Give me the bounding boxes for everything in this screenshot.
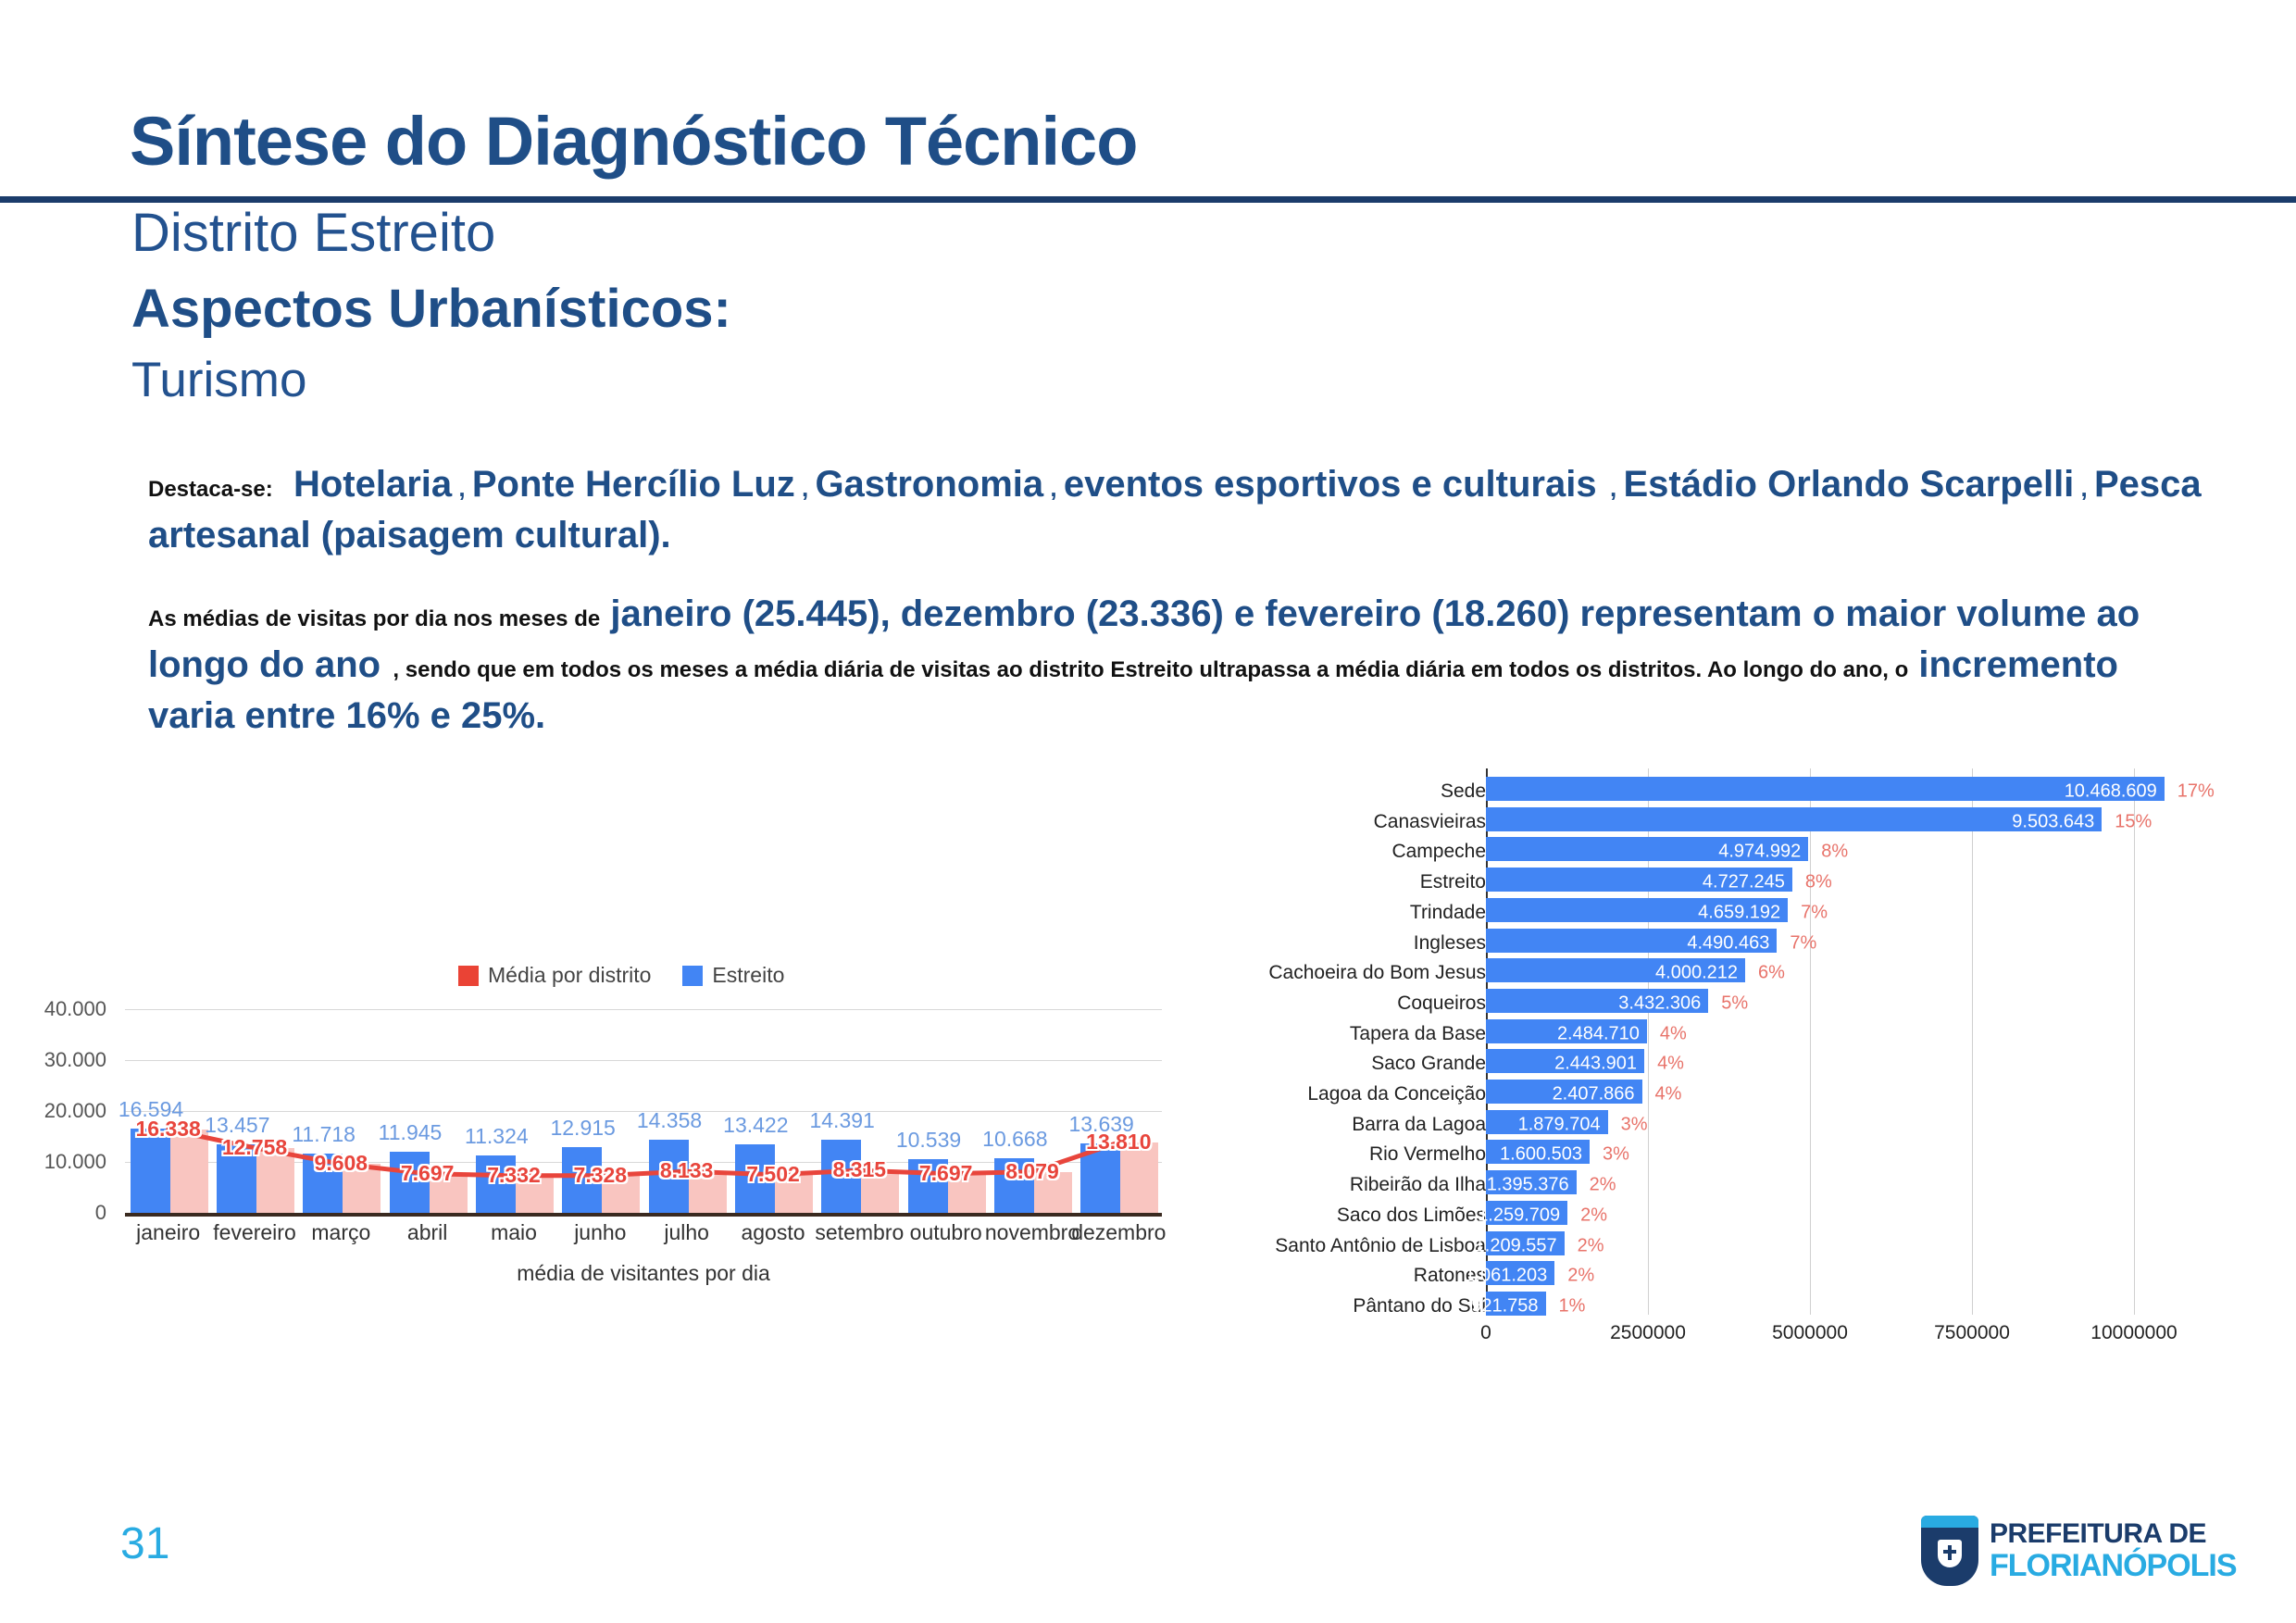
label-estreito-value: 11.718 — [292, 1122, 356, 1147]
subsection-title: Turismo — [131, 352, 306, 408]
hbar-category-label: Santo Antônio de Lisboa — [1275, 1235, 1486, 1257]
label-media-value: 13.810 — [1086, 1130, 1151, 1155]
hbar-percent-label: 17% — [2177, 781, 2215, 803]
hbar-percent-label: 7% — [1801, 902, 1828, 923]
hbar-category-label: Estreito — [1420, 871, 1486, 893]
brand-text: PREFEITURA DE FLORIANÓPOLIS — [1990, 1520, 2237, 1581]
label-estreito-value: 11.324 — [465, 1124, 529, 1149]
item-ponte-hercilio-luz: Ponte Hercílio Luz — [472, 464, 795, 505]
hbar-value-label: 4.490.463 — [1687, 932, 1769, 954]
chart-column — [211, 1009, 297, 1213]
hbar-x-tick-label: 5000000 — [1772, 1322, 1848, 1344]
label-media-value: 7.328 — [574, 1163, 628, 1188]
hbar-x-tick-label: 10000000 — [2090, 1322, 2177, 1344]
x-axis-tick-label: dezembro — [1071, 1220, 1166, 1245]
x-axis-tick-label: maio — [491, 1220, 537, 1245]
hbar-x-tick-label: 7500000 — [1934, 1322, 2010, 1344]
prefeitura-florianopolis-logo: PREFEITURA DE FLORIANÓPOLIS — [1921, 1509, 2199, 1592]
legend-item-estreito: Estreito — [682, 963, 784, 988]
hbar-value-label: 1.395.376 — [1487, 1175, 1569, 1196]
x-axis-tick-label: fevereiro — [213, 1220, 295, 1245]
chart-monthly-visits: Média por distrito Estreito 010.00020.00… — [37, 963, 1176, 1268]
legend-swatch-estreito — [682, 966, 703, 986]
chart-plot-area: 010.00020.00030.00040.000 16.59416.33813… — [125, 1009, 1162, 1213]
label-estreito-value: 12.915 — [550, 1116, 615, 1141]
body-text: Destaca-se: Hotelaria , Ponte Hercílio L… — [148, 463, 2203, 773]
x-axis-tick-label: agosto — [741, 1220, 805, 1245]
hbar-percent-label: 8% — [1805, 872, 1832, 893]
brand-line-2: FLORIANÓPOLIS — [1990, 1550, 2237, 1581]
label-media-value: 12.758 — [222, 1135, 287, 1160]
hbar-percent-label: 4% — [1657, 1054, 1684, 1075]
hbar-value-label: 10.468.609 — [2065, 781, 2157, 803]
hbar-value-label: 921.758 — [1471, 1295, 1538, 1317]
hbar-category-label: Cachoeira do Bom Jesus — [1268, 962, 1486, 984]
label-media-value: 7.697 — [919, 1161, 973, 1186]
hbar-value-label: 4.659.192 — [1698, 902, 1780, 923]
hbar-percent-label: 6% — [1758, 963, 1785, 984]
district-subtitle: Distrito Estreito — [131, 202, 495, 264]
x-axis-tick-label: julho — [664, 1220, 709, 1245]
hbar-percent-label: 3% — [1621, 1114, 1648, 1135]
legend-item-media-por-distrito: Média por distrito — [458, 963, 651, 988]
chart-column — [298, 1009, 384, 1213]
paragraph-destaca-se: Destaca-se: Hotelaria , Ponte Hercílio L… — [148, 463, 2203, 565]
label-media-value: 16.338 — [135, 1117, 200, 1142]
legend-label-estreito: Estreito — [712, 963, 784, 988]
label-estreito-value: 14.391 — [809, 1108, 874, 1133]
label-media-value: 7.697 — [401, 1161, 455, 1186]
legend-swatch-media — [458, 966, 479, 986]
hbar-percent-label: 3% — [1603, 1144, 1629, 1166]
chart-legend: Média por distrito Estreito — [458, 963, 784, 988]
hbar-percent-label: 2% — [1580, 1205, 1607, 1226]
crest-cross-horizontal — [1943, 1550, 1956, 1554]
hbar-bar — [1486, 807, 2102, 831]
crest-icon — [1921, 1516, 1978, 1586]
item-eventos: eventos esportivos e culturais — [1064, 464, 1597, 505]
hbar-percent-label: 2% — [1567, 1266, 1594, 1287]
x-axis-tick-label: novembro — [985, 1220, 1079, 1245]
hbar-percent-label: 2% — [1578, 1235, 1604, 1256]
hbar-category-label: Canasvieiras — [1374, 811, 1486, 833]
chart-baseline — [125, 1213, 1162, 1217]
hbar-value-label: 3.432.306 — [1618, 993, 1701, 1014]
hbar-bar — [1486, 777, 2165, 801]
hbar-value-label: 4.727.245 — [1703, 872, 1785, 893]
hbar-category-label: Campeche — [1391, 841, 1486, 863]
item-gastronomia: Gastronomia — [815, 464, 1043, 505]
item-estadio: Estádio Orlando Scarpelli — [1624, 464, 2075, 505]
hbar-category-label: Coqueiros — [1397, 993, 1486, 1015]
hbar-percent-label: 1% — [1559, 1295, 1586, 1317]
label-estreito-value: 14.358 — [637, 1108, 702, 1133]
hbar-category-label: Rio Vermelho — [1369, 1143, 1486, 1166]
page-title: Síntese do Diagnóstico Técnico — [130, 102, 1137, 181]
legend-label-media: Média por distrito — [488, 963, 651, 988]
y-axis-tick-label: 40.000 — [44, 997, 106, 1021]
label-media-value: 7.502 — [746, 1162, 800, 1187]
y-axis-tick-label: 0 — [95, 1201, 106, 1225]
hbar-percent-label: 4% — [1655, 1084, 1682, 1105]
chart-x-axis-title: média de visitantes por dia — [125, 1261, 1162, 1286]
hbar-value-label: 2.407.866 — [1553, 1084, 1635, 1105]
hbar-category-label: Barra da Lagoa — [1352, 1114, 1486, 1136]
medias-mid: , sendo que em todos os meses a média di… — [393, 657, 1908, 682]
hbar-x-tick-label: 2500000 — [1610, 1322, 1686, 1344]
hbar-row: Pântano do Sul921.7581% — [1250, 1289, 2268, 1324]
paragraph-medias: As médias de visitas por dia nos meses d… — [148, 593, 2203, 745]
hbar-value-label: 1.879.704 — [1518, 1114, 1601, 1135]
hbar-value-label: 2.484.710 — [1557, 1023, 1640, 1044]
y-axis-tick-label: 10.000 — [44, 1150, 106, 1174]
section-title: Aspectos Urbanísticos: — [131, 278, 731, 340]
item-hotelaria: Hotelaria — [293, 464, 452, 505]
hbar-category-label: Saco Grande — [1371, 1053, 1486, 1075]
hbar-value-label: 1.600.503 — [1500, 1144, 1582, 1166]
x-axis-tick-label: outubro — [910, 1220, 982, 1245]
chart-visits-by-district: Sede10.468.60917%Canasvieiras9.503.64315… — [1250, 768, 2268, 1342]
hbar-percent-label: 5% — [1721, 993, 1748, 1014]
y-axis-tick-label: 30.000 — [44, 1048, 106, 1072]
label-media-value: 8.079 — [1005, 1159, 1059, 1184]
brand-line-1: PREFEITURA DE — [1990, 1520, 2237, 1548]
hbar-percent-label: 4% — [1660, 1023, 1687, 1044]
hbar-category-label: Ribeirão da Ilha — [1350, 1174, 1486, 1196]
hbar-category-label: Pântano do Sul — [1353, 1295, 1486, 1317]
label-estreito-value: 10.668 — [982, 1127, 1047, 1152]
hbar-x-tick-label: 0 — [1480, 1322, 1491, 1344]
page-number: 31 — [120, 1518, 169, 1569]
hbar-category-label: Saco dos Limões — [1337, 1205, 1486, 1227]
hbar-percent-label: 2% — [1590, 1175, 1616, 1196]
label-media-value: 8.315 — [833, 1157, 887, 1182]
hbar-value-label: 1.259.709 — [1478, 1205, 1560, 1226]
label-media-value: 9.608 — [315, 1151, 368, 1176]
hbar-value-label: 2.443.901 — [1554, 1054, 1637, 1075]
label-estreito-value: 10.539 — [896, 1128, 961, 1153]
label-estreito-value: 11.945 — [379, 1120, 443, 1145]
label-estreito-value: 13.422 — [723, 1113, 788, 1138]
hbar-category-label: Trindade — [1410, 902, 1486, 924]
destaca-se-lead: Destaca-se: — [148, 477, 273, 502]
hbar-percent-label: 8% — [1821, 842, 1848, 863]
x-axis-tick-label: setembro — [815, 1220, 904, 1245]
hbar-percent-label: 7% — [1790, 932, 1816, 954]
crest-shield-icon — [1938, 1540, 1962, 1567]
hbar-value-label: 1.061.203 — [1465, 1266, 1547, 1287]
label-media-value: 7.332 — [487, 1163, 541, 1188]
medias-lead: As médias de visitas por dia nos meses d… — [148, 606, 600, 631]
hbar-category-label: Sede — [1441, 780, 1486, 803]
hbar-percent-label: 15% — [2115, 811, 2152, 832]
hbar-value-label: 4.974.992 — [1718, 842, 1801, 863]
y-axis-tick-label: 20.000 — [44, 1099, 106, 1123]
hbar-value-label: 9.503.643 — [2012, 811, 2094, 832]
x-axis-tick-label: junho — [574, 1220, 626, 1245]
x-axis-tick-label: abril — [407, 1220, 447, 1245]
hbar-value-label: 1.209.557 — [1475, 1235, 1557, 1256]
hbar-category-label: Lagoa da Conceição — [1307, 1083, 1486, 1105]
label-media-value: 8.133 — [660, 1158, 714, 1183]
hbar-category-label: Ingleses — [1414, 932, 1486, 955]
crest-top-band — [1921, 1516, 1978, 1528]
bar-media-por-distrito — [170, 1130, 208, 1213]
x-axis-tick-label: janeiro — [136, 1220, 200, 1245]
hbar-value-label: 4.000.212 — [1655, 963, 1738, 984]
hbar-category-label: Tapera da Base — [1350, 1023, 1486, 1045]
x-axis-tick-label: março — [311, 1220, 370, 1245]
